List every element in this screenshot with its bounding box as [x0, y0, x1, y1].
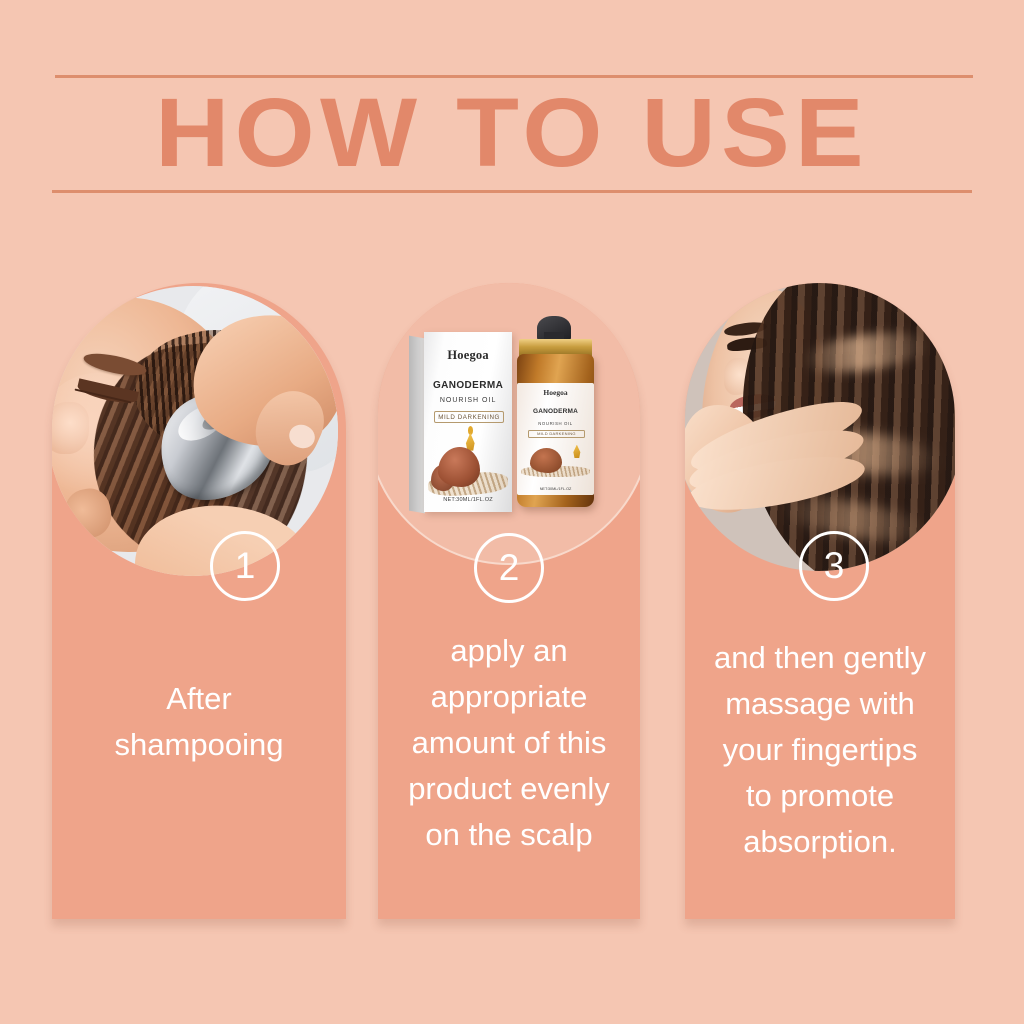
bottle-mushroom-graphic [530, 448, 562, 473]
product-box-brand: Hoegoa [424, 348, 511, 363]
step-number-badge-2: 2 [474, 533, 544, 603]
bottle-label-subtitle: NOURISH OIL [517, 421, 593, 426]
step-caption-1: After shampooing [52, 676, 346, 768]
oil-droplet-small-icon [468, 426, 473, 435]
product-box-subtitle: NOURISH OIL [424, 397, 511, 404]
bottle-label-badge: MILD DARKENING [528, 430, 585, 438]
bottle-label-net-volume: NET:30ML/1FL.OZ [517, 487, 593, 491]
step-number-badge-3: 3 [799, 531, 869, 601]
steps-row: 1 After shampooing Hoegoa GANODERMA NOUR… [0, 283, 1024, 923]
glossy-hair-photo [685, 283, 955, 571]
ganoderma-mushroom-graphic [438, 447, 480, 487]
product-box-badge: MILD DARKENING [434, 411, 504, 423]
how-to-use-poster: HOW TO USE [0, 0, 1024, 1024]
scalp-massage-photo [52, 286, 338, 576]
step-card-1: 1 After shampooing [52, 283, 346, 919]
step-2-photo: Hoegoa GANODERMA NOURISH OIL MILD DARKEN… [378, 283, 640, 565]
title-rule-bottom [52, 190, 972, 193]
step-number-badge-1: 1 [210, 531, 280, 601]
step-card-3: 3 and then gently massage with your fing… [685, 283, 955, 919]
step-1-photo [52, 286, 338, 576]
poster-header: HOW TO USE [0, 0, 1024, 230]
step-card-2: Hoegoa GANODERMA NOURISH OIL MILD DARKEN… [378, 283, 640, 919]
product-photo: Hoegoa GANODERMA NOURISH OIL MILD DARKEN… [378, 283, 640, 563]
bottle-label-brand: Hoegoa [517, 388, 593, 397]
product-box-name: GANODERMA [424, 380, 511, 391]
bottle-label-name: GANODERMA [517, 408, 593, 415]
step-caption-3: and then gently massage with your finger… [685, 635, 955, 865]
bottle-oil-droplet-icon [572, 445, 581, 460]
product-box-side [409, 336, 425, 514]
step-3-photo [685, 283, 955, 571]
step-caption-2: apply an appropriate amount of this prod… [378, 628, 640, 858]
product-bottle-label: Hoegoa GANODERMA NOURISH OIL MILD DARKEN… [517, 383, 593, 496]
product-box: Hoegoa GANODERMA NOURISH OIL MILD DARKEN… [424, 332, 511, 512]
product-box-net-volume: NET:30ML/1FL.OZ [424, 497, 511, 503]
page-title: HOW TO USE [0, 79, 1024, 187]
